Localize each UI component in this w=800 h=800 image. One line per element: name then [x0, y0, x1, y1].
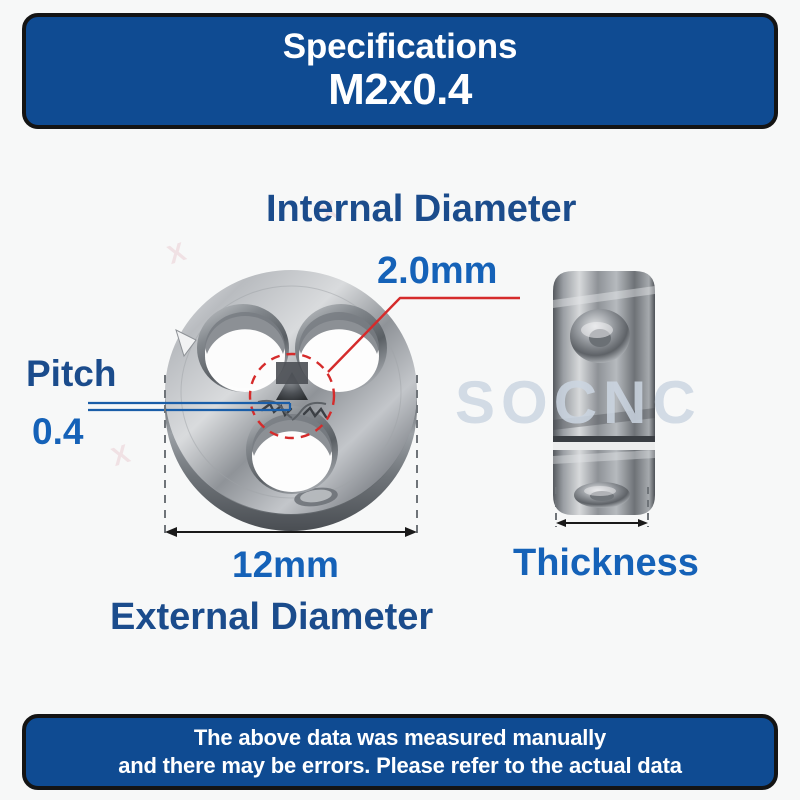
disclaimer-line-2: and there may be errors. Please refer to…	[118, 752, 681, 780]
internal-diameter-label: Internal Diameter	[266, 188, 576, 231]
internal-diameter-value: 2.0mm	[377, 250, 497, 293]
thickness-label: Thickness	[513, 542, 699, 585]
pitch-value: 0.4	[32, 411, 83, 453]
spec-title: Specifications	[283, 28, 518, 66]
spec-value: M2x0.4	[328, 66, 472, 114]
disclaimer-banner: The above data was measured manually and…	[22, 714, 778, 790]
product-spec-image: SOCNC X X X Specifications M2x0.4 Intern…	[0, 0, 800, 800]
disclaimer-line-1: The above data was measured manually	[194, 724, 606, 752]
pitch-label: Pitch	[26, 353, 116, 395]
specifications-banner: Specifications M2x0.4	[22, 13, 778, 129]
external-diameter-value: 12mm	[232, 544, 339, 586]
brand-watermark: SOCNC	[455, 368, 702, 437]
external-diameter-label: External Diameter	[110, 596, 433, 639]
die-front-view	[165, 270, 417, 531]
